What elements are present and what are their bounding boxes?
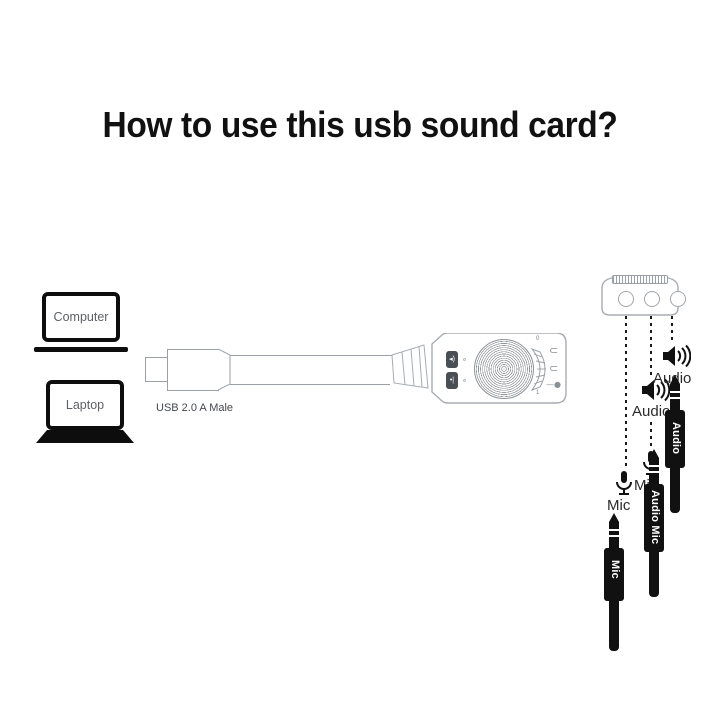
plug-mic-ring-2 xyxy=(609,535,619,537)
plug-mic-cable xyxy=(609,601,619,651)
plug-mic-ring-1 xyxy=(609,529,619,531)
dotted-line-mic xyxy=(625,316,627,468)
port-audio-mic[interactable] xyxy=(644,291,660,307)
speaker-mute-button[interactable]: ◂) xyxy=(446,351,458,368)
usb-connector-label: USB 2.0 A Male xyxy=(156,402,233,414)
dotted-line-audio xyxy=(671,316,673,344)
plug-audio-barrel: Audio xyxy=(665,410,685,468)
headphone-port-icon: ⊂ xyxy=(549,345,558,356)
plug-mic-text: Mic xyxy=(609,560,621,579)
port-mic[interactable] xyxy=(618,291,634,307)
plug-audio-mic-ring-1 xyxy=(649,465,659,467)
plug-audio-text: Audio xyxy=(670,422,682,454)
page-title: How to use this usb sound card? xyxy=(25,104,695,146)
cable-edge-bottom xyxy=(230,384,390,385)
plug-audio-tip xyxy=(670,375,680,384)
plug-audio-mic-barrel: Audio Mic xyxy=(644,484,664,552)
jack-panel-ribbing xyxy=(612,275,668,284)
computer-screen: Computer xyxy=(42,292,120,342)
speaker-grille-icon xyxy=(474,339,534,399)
dotted-line-audio-mic-upper xyxy=(650,316,652,378)
plug-audio-ring-1 xyxy=(670,391,680,393)
label-mic-col1: Mic xyxy=(607,497,630,514)
plug-audio-cable xyxy=(670,468,680,513)
computer-label: Computer xyxy=(54,310,109,324)
port-audio[interactable] xyxy=(670,291,686,307)
plug-mic-tip xyxy=(609,513,619,522)
plug-audio-ring-2 xyxy=(670,397,680,399)
plug-audio-mic-tip xyxy=(649,449,659,458)
plug-audio-mic-ring-2 xyxy=(649,471,659,473)
volume-min-mark: 0 xyxy=(536,336,539,342)
computer-stand xyxy=(34,347,128,352)
laptop-label: Laptop xyxy=(66,398,104,412)
plug-audio-mic-cable xyxy=(649,552,659,597)
mic-mute-button[interactable]: •| xyxy=(446,372,458,389)
speaker-icon-col3 xyxy=(661,344,691,368)
headphone-port-icon-2: ⊂ xyxy=(549,363,558,374)
illustration-canvas: How to use this usb sound card? Computer… xyxy=(0,0,720,720)
laptop-screen: Laptop xyxy=(46,380,124,430)
mic-mute-glyph: •| xyxy=(450,377,454,384)
mic-led xyxy=(463,379,466,382)
plug-audio-mic-text: Audio Mic xyxy=(649,490,661,544)
dotted-line-audio-mic-lower xyxy=(650,422,652,450)
plug-mic-barrel: Mic xyxy=(604,548,624,601)
cable-edge-top xyxy=(230,355,396,356)
speaker-led xyxy=(463,358,466,361)
volume-max-mark: 1 xyxy=(536,390,539,396)
speaker-mute-glyph: ◂) xyxy=(449,356,455,363)
usb-tip xyxy=(145,357,167,382)
mic-port-icon: —● xyxy=(546,381,561,389)
mic-icon-col1 xyxy=(613,470,635,496)
laptop-base xyxy=(36,430,134,443)
usb-body xyxy=(167,349,219,391)
